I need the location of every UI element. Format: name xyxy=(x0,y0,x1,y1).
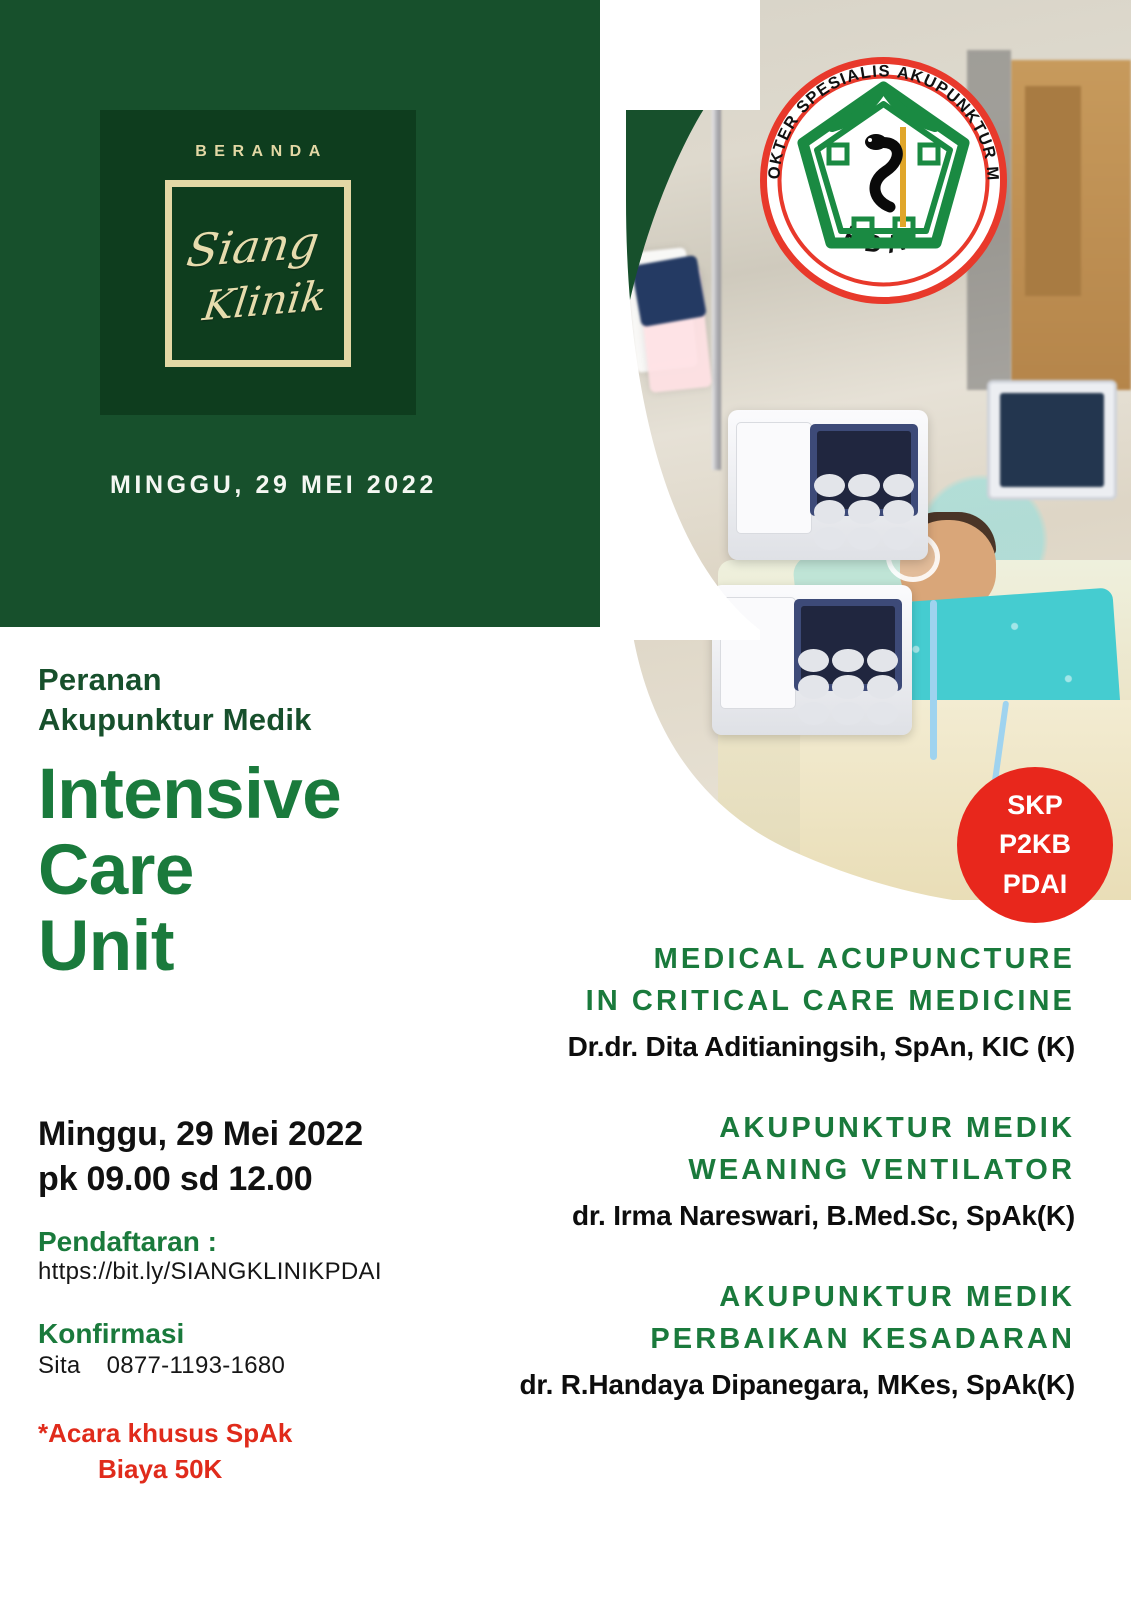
contact-phone[interactable]: 0877-1193-1680 xyxy=(107,1352,286,1379)
contact-name: Sita xyxy=(38,1352,81,1379)
speaker-topic-line1: AKUPUNKTUR MEDIK xyxy=(415,1107,1075,1149)
speaker-topic-line2: WEANING VENTILATOR xyxy=(415,1149,1075,1191)
speaker-topic-line2: IN CRITICAL CARE MEDICINE xyxy=(415,980,1075,1022)
skp-badge: SKP P2KB PDAI xyxy=(957,767,1113,923)
brand-beranda-label: BERANDA xyxy=(188,143,328,161)
speaker-topic-line1: MEDICAL ACUPUNCTURE xyxy=(415,938,1075,980)
fee-restriction-note: *Acara khusus SpAk xyxy=(38,1416,508,1451)
brand-gold-frame: Siang Klinik xyxy=(165,180,351,367)
title-line2: Care xyxy=(38,833,468,909)
brand-klinik-script: Klinik xyxy=(201,277,329,326)
speaker-topic-line1: AKUPUNKTUR MEDIK xyxy=(415,1276,1075,1318)
title-line1: Intensive xyxy=(38,757,468,833)
title-block: Peranan Akupunktur Medik Intensive Care … xyxy=(38,660,468,985)
brand-siang-script: Siang xyxy=(184,221,322,273)
brand-logo-card: BERANDA Siang Klinik xyxy=(100,110,416,415)
speaker-name: Dr.dr. Dita Aditianingsih, SpAn, KIC (K) xyxy=(415,1031,1075,1063)
fee-amount: Biaya 50K xyxy=(98,1452,508,1487)
needle-icon xyxy=(900,127,906,227)
speaker-topic-line2: PERBAIKAN KESADARAN xyxy=(415,1318,1075,1360)
door-shape xyxy=(1011,60,1131,390)
title-kicker-line2: Akupunktur Medik xyxy=(38,700,468,740)
page-title: Intensive Care Unit xyxy=(38,757,468,985)
fee-note-block: *Acara khusus SpAk Biaya 50K xyxy=(38,1416,508,1486)
patient-monitor xyxy=(987,380,1117,500)
photo-left-mask xyxy=(600,0,760,640)
skp-badge-line2: P2KB xyxy=(999,825,1071,864)
hero-date-text: MINGGU, 29 MEI 2022 xyxy=(110,466,440,505)
speaker-entry: AKUPUNKTUR MEDIK WEANING VENTILATOR dr. … xyxy=(415,1107,1075,1232)
speaker-entry: MEDICAL ACUPUNCTURE IN CRITICAL CARE MED… xyxy=(415,938,1075,1063)
skp-badge-line1: SKP xyxy=(1007,786,1063,825)
pdai-logo: PERHIMPUNAN DOKTER SPESIALIS AKUPUNKTUR … xyxy=(750,47,1017,314)
title-line3: Unit xyxy=(38,909,468,985)
speakers-list: MEDICAL ACUPUNCTURE IN CRITICAL CARE MED… xyxy=(415,938,1075,1401)
speaker-name: dr. Irma Nareswari, B.Med.Sc, SpAk(K) xyxy=(415,1200,1075,1232)
speaker-entry: AKUPUNKTUR MEDIK PERBAIKAN KESADARAN dr.… xyxy=(415,1276,1075,1401)
skp-badge-line3: PDAI xyxy=(1003,865,1068,904)
title-kicker-line1: Peranan xyxy=(38,660,468,700)
title-kicker: Peranan Akupunktur Medik xyxy=(38,660,468,739)
speaker-name: dr. R.Handaya Dipanegara, MKes, SpAk(K) xyxy=(415,1369,1075,1401)
